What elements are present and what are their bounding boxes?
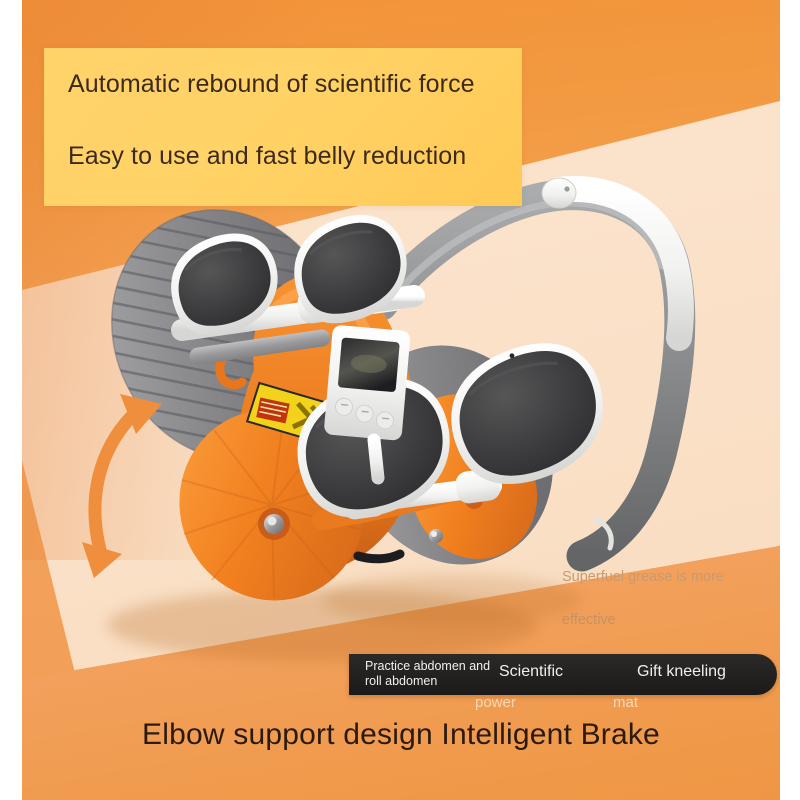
bottom-headline: Elbow support design Intelligent Brake <box>22 718 780 752</box>
feature-pill-bar: Practice abdomen and roll abdomen Scient… <box>349 654 777 695</box>
handlebar-pivot-joint <box>542 178 576 208</box>
overflow-label-power: power <box>475 694 516 711</box>
side-caption: Superfuel grease is more effective <box>562 556 780 642</box>
feature-item-2: Scientific <box>499 663 563 681</box>
counter-support-post <box>374 440 378 478</box>
headline-line-2: Easy to use and fast belly reduction <box>68 142 498 171</box>
side-caption-line-2: effective <box>562 599 780 642</box>
axle-bolt-highlight <box>268 517 277 526</box>
image-stage: Automatic rebound of scientific force Ea… <box>22 0 780 800</box>
handlebar-white-section <box>558 189 681 338</box>
pad-dark-slot <box>358 554 400 559</box>
side-caption-line-1: Superfuel grease is more <box>562 556 780 599</box>
overflow-label-mat: mat <box>613 694 638 711</box>
handlebar-pivot-screw <box>564 186 569 191</box>
product-ground-shadow-2 <box>322 574 582 626</box>
counter-module <box>324 325 411 441</box>
headline-panel: Automatic rebound of scientific force Ea… <box>44 48 522 206</box>
product-marketing-image: Automatic rebound of scientific force Ea… <box>0 0 800 800</box>
curved-double-arrow-icon <box>74 378 204 588</box>
headline-line-1: Automatic rebound of scientific force <box>68 70 498 99</box>
rebound-arrow-annotation <box>74 378 204 588</box>
feature-item-1: Practice abdomen and roll abdomen <box>365 659 495 689</box>
feature-item-3: Gift kneeling <box>637 663 726 681</box>
